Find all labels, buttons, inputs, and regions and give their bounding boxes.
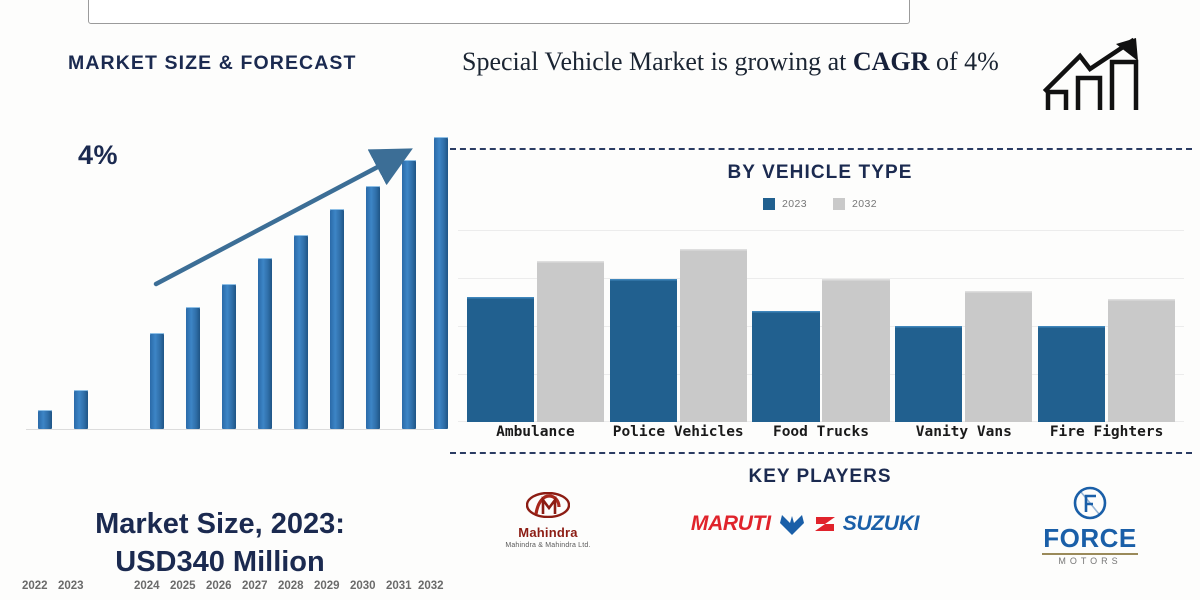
market-size-forecast-chart: 4% xyxy=(12,104,436,466)
by-vehicle-type-chart xyxy=(450,222,1192,422)
by-vehicle-type-title: BY VEHICLE TYPE xyxy=(440,162,1200,184)
mahindra-mark-icon xyxy=(526,492,570,518)
bar-2023 xyxy=(1038,326,1105,422)
year-tick-label: 2029 xyxy=(314,580,340,592)
key-players-title: KEY PLAYERS xyxy=(440,466,1200,488)
bar-2023 xyxy=(610,279,677,422)
legend-item[interactable]: 2032 xyxy=(833,198,877,210)
headline-text: Special Vehicle Market is growing at CAG… xyxy=(462,44,1062,81)
year-tick-label: 2031 xyxy=(386,580,412,592)
category-label: Ambulance xyxy=(464,424,607,440)
right-panel: Special Vehicle Market is growing at CAG… xyxy=(440,0,1200,600)
mahindra-name: Mahindra xyxy=(468,525,628,540)
year-tick-label: 2027 xyxy=(242,580,268,592)
year-tick-label: 2030 xyxy=(350,580,376,592)
bar-group xyxy=(1035,222,1178,422)
bar-group xyxy=(750,222,893,422)
bar-2023 xyxy=(467,297,534,422)
market-size-forecast-panel: MARKET SIZE & FORECAST 4% 20222023202420… xyxy=(0,36,440,600)
year-tick-label: 2024 xyxy=(134,580,160,592)
legend-label: 2023 xyxy=(782,198,807,210)
market-size-line-2: USD340 Million xyxy=(0,544,440,582)
force-rule xyxy=(1042,553,1138,555)
legend-label: 2032 xyxy=(852,198,877,210)
bar-2032 xyxy=(822,279,889,422)
year-tick-label: 2028 xyxy=(278,580,304,592)
bar-2023 xyxy=(895,326,962,422)
key-players-logos: Mahindra Mahindra & Mahindra Ltd. MARUTI… xyxy=(440,486,1200,586)
bar-2023 xyxy=(752,311,819,422)
force-subtitle: MOTORS xyxy=(1000,556,1180,566)
bar-2032 xyxy=(680,249,747,422)
suzuki-s-icon xyxy=(813,512,837,536)
logo-maruti-suzuki: MARUTI SUZUKI xyxy=(660,512,950,536)
maruti-wing-icon xyxy=(777,512,807,536)
category-label: Vanity Vans xyxy=(892,424,1035,440)
left-panel-title: MARKET SIZE & FORECAST xyxy=(68,52,357,75)
year-tick-label: 2026 xyxy=(206,580,232,592)
chart-legend: 20232032 xyxy=(440,198,1200,210)
divider-top xyxy=(450,148,1192,150)
category-label: Fire Fighters xyxy=(1035,424,1178,440)
bar-2032 xyxy=(1108,299,1175,422)
cagr-annotation: 4% xyxy=(78,140,118,171)
legend-item[interactable]: 2023 xyxy=(763,198,807,210)
growth-bar-arrow-icon xyxy=(1040,36,1148,114)
bar-2032 xyxy=(537,261,604,422)
market-size-line-1: Market Size, 2023: xyxy=(0,506,440,544)
headline-part-2: of 4% xyxy=(929,47,998,76)
legend-swatch xyxy=(763,198,775,210)
bar-group xyxy=(464,222,607,422)
headline-cagr: CAGR xyxy=(853,47,930,76)
logo-force-motors: FORCE MOTORS xyxy=(1000,486,1180,566)
logo-mahindra: Mahindra Mahindra & Mahindra Ltd. xyxy=(468,492,628,549)
bar-plot-area xyxy=(464,222,1178,422)
headline-part-1: Special Vehicle Market is growing at xyxy=(462,47,853,76)
year-tick-label: 2023 xyxy=(58,580,84,592)
infographic-page: MARKET SIZE & FORECAST 4% 20222023202420… xyxy=(0,0,1200,600)
market-size-callout: Market Size, 2023: USD340 Million xyxy=(0,506,440,581)
category-label: Food Trucks xyxy=(750,424,893,440)
bar-2032 xyxy=(965,291,1032,422)
year-tick-label: 2022 xyxy=(22,580,48,592)
bar-group xyxy=(892,222,1035,422)
category-label: Police Vehicles xyxy=(607,424,750,440)
category-axis-labels: AmbulancePolice VehiclesFood TrucksVanit… xyxy=(450,424,1192,448)
growth-arrow-icon xyxy=(12,104,436,466)
maruti-wordmark: MARUTI xyxy=(691,512,771,536)
legend-swatch xyxy=(833,198,845,210)
force-f-circle-icon xyxy=(1073,486,1107,520)
force-wordmark: FORCE xyxy=(1000,525,1180,551)
suzuki-wordmark: SUZUKI xyxy=(843,512,919,536)
mahindra-subtitle: Mahindra & Mahindra Ltd. xyxy=(468,542,628,549)
bar-group xyxy=(607,222,750,422)
year-tick-label: 2025 xyxy=(170,580,196,592)
divider-bottom xyxy=(450,452,1192,454)
